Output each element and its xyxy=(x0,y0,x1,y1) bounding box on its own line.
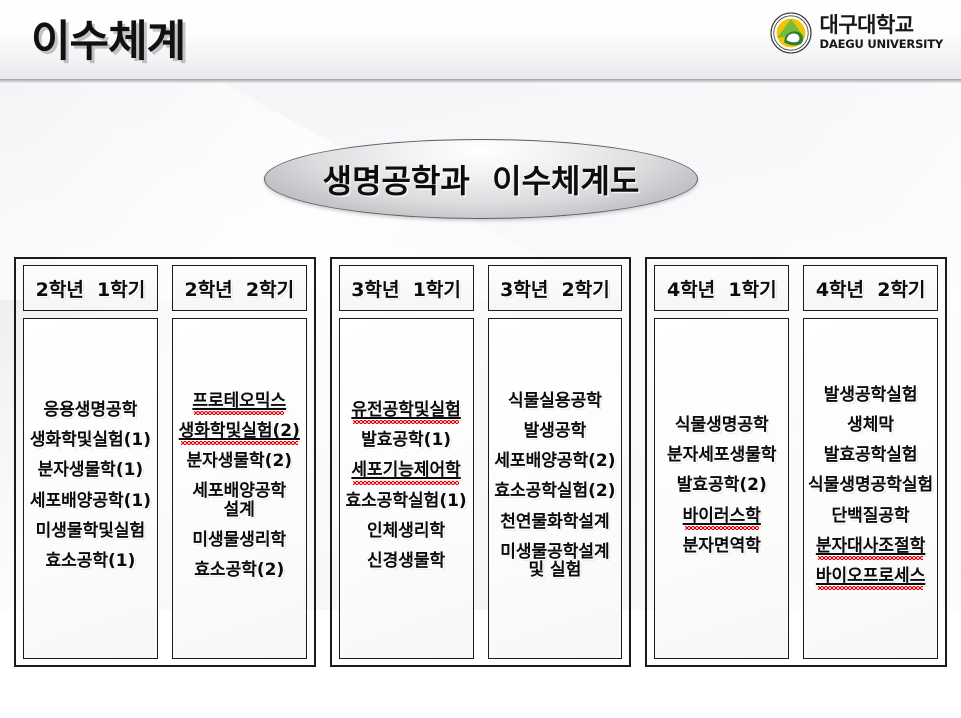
course-item: 효소공학실험(1) xyxy=(345,486,466,516)
course-item: 세포배양공학 설계 xyxy=(192,476,286,524)
course-list: 응용생명공학생화학및실험(1)분자생물학(1)세포배양공학(1)미생물학및실험효… xyxy=(23,318,158,659)
course-item: 바이러스학 xyxy=(683,501,761,531)
course-list: 유전공학및실험발효공학(1)세포기능제어학효소공학실험(1)인체생리학신경생물학 xyxy=(339,318,474,659)
university-name-en: DAEGU UNIVERSITY xyxy=(820,39,943,51)
course-item: 세포기능제어학 xyxy=(351,455,460,485)
semester-column: 2학년 2학기프로테오믹스생화학및실험(2)분자생물학(2)세포배양공학 설계미… xyxy=(165,259,314,665)
semester-header-label: 2학년 2학기 xyxy=(184,275,294,302)
semester-header-box: 4학년 1학기 xyxy=(654,265,789,311)
course-item: 효소공학실험(2) xyxy=(494,476,615,506)
course-item: 식물실용공학 xyxy=(508,386,602,416)
university-logo-text: 대구대학교 DAEGU UNIVERSITY xyxy=(820,15,943,51)
semester-header-box: 2학년 1학기 xyxy=(23,265,158,311)
course-list: 식물생명공학분자세포생물학발효공학(2)바이러스학분자면역학 xyxy=(654,318,789,659)
page-title: 이수체계 xyxy=(31,7,185,69)
semester-header-label: 3학년 1학기 xyxy=(351,275,461,302)
semester-column: 3학년 1학기유전공학및실험발효공학(1)세포기능제어학효소공학실험(1)인체생… xyxy=(332,259,481,665)
course-list: 식물실용공학발생공학세포배양공학(2)효소공학실험(2)천연물화학설계미생물공학… xyxy=(488,318,623,659)
course-item: 식물생명공학 xyxy=(675,410,769,440)
course-item: 분자대사조절학 xyxy=(816,531,925,561)
course-item: 효소공학(1) xyxy=(45,546,135,576)
course-list: 발생공학실험생체막발효공학실험식물생명공학실험단백질공학분자대사조절학바이오프로… xyxy=(803,318,938,659)
course-item: 인체생리학 xyxy=(367,516,445,546)
semester-header-label: 4학년 1학기 xyxy=(667,275,777,302)
semester-group-year-2: 2학년 1학기응용생명공학생화학및실험(1)분자생물학(1)세포배양공학(1)미… xyxy=(14,257,316,667)
course-item: 발생공학실험 xyxy=(824,380,918,410)
course-item: 분자생물학(2) xyxy=(186,446,292,476)
course-list: 프로테오믹스생화학및실험(2)분자생물학(2)세포배양공학 설계미생물생리학효소… xyxy=(172,318,307,659)
semester-group-year-3: 3학년 1학기유전공학및실험발효공학(1)세포기능제어학효소공학실험(1)인체생… xyxy=(330,257,632,667)
course-item: 발효공학실험 xyxy=(824,440,918,470)
course-item: 효소공학(2) xyxy=(194,555,284,585)
university-name-ko: 대구대학교 xyxy=(820,15,943,36)
semester-header-box: 2학년 2학기 xyxy=(172,265,307,311)
chart-title-text: 생명공학과 이수체계도 xyxy=(323,156,640,202)
semester-column: 3학년 2학기식물실용공학발생공학세포배양공학(2)효소공학실험(2)천연물화학… xyxy=(481,259,630,665)
course-item: 단백질공학 xyxy=(832,501,910,531)
course-item: 유전공학및실험 xyxy=(351,395,460,425)
course-item: 분자생물학(1) xyxy=(38,455,144,485)
course-item: 응용생명공학 xyxy=(44,395,138,425)
semester-header-label: 4학년 2학기 xyxy=(816,275,926,302)
course-item: 발효공학(1) xyxy=(361,425,451,455)
semester-column: 4학년 2학기발생공학실험생체막발효공학실험식물생명공학실험단백질공학분자대사조… xyxy=(796,259,945,665)
course-item: 세포배양공학(1) xyxy=(30,486,151,516)
course-item: 발생공학 xyxy=(524,416,587,446)
semester-header-box: 3학년 2학기 xyxy=(488,265,623,311)
semester-column: 4학년 1학기식물생명공학분자세포생물학발효공학(2)바이러스학분자면역학 xyxy=(647,259,796,665)
course-item: 분자세포생물학 xyxy=(667,440,776,470)
semester-header-box: 4학년 2학기 xyxy=(803,265,938,311)
course-item: 식물생명공학실험 xyxy=(808,470,933,500)
semester-group-year-4: 4학년 1학기식물생명공학분자세포생물학발효공학(2)바이러스학분자면역학4학년… xyxy=(645,257,947,667)
course-item: 신경생물학 xyxy=(367,546,445,576)
semester-column: 2학년 1학기응용생명공학생화학및실험(1)분자생물학(1)세포배양공학(1)미… xyxy=(16,259,165,665)
semester-header-label: 2학년 1학기 xyxy=(36,275,146,302)
course-item: 미생물생리학 xyxy=(192,525,286,555)
course-item: 세포배양공학(2) xyxy=(494,446,615,476)
course-item: 미생물공학설계 및 실험 xyxy=(500,537,609,585)
course-item: 프로테오믹스 xyxy=(192,386,286,416)
chart-title-oval: 생명공학과 이수체계도 xyxy=(264,139,698,219)
course-item: 생화학및실험(1) xyxy=(30,425,151,455)
course-item: 바이오프로세스 xyxy=(816,561,925,591)
semester-header-box: 3학년 1학기 xyxy=(339,265,474,311)
header-divider-rule xyxy=(0,79,961,83)
semester-header-label: 3학년 2학기 xyxy=(500,275,610,302)
course-item: 생화학및실험(2) xyxy=(179,416,300,446)
course-item: 천연물화학설계 xyxy=(500,507,609,537)
slide-canvas: 이수체계 대구대학교 DAEGU UNIVERSITY 생명공학과 이수체계도 … xyxy=(0,0,961,718)
daegu-university-emblem-icon xyxy=(770,12,812,54)
course-item: 발효공학(2) xyxy=(677,470,767,500)
course-item: 생체막 xyxy=(847,410,894,440)
course-item: 미생물학및실험 xyxy=(36,516,145,546)
university-logo: 대구대학교 DAEGU UNIVERSITY xyxy=(770,12,943,54)
semester-grid: 2학년 1학기응용생명공학생화학및실험(1)분자생물학(1)세포배양공학(1)미… xyxy=(14,257,947,667)
course-item: 분자면역학 xyxy=(683,531,761,561)
